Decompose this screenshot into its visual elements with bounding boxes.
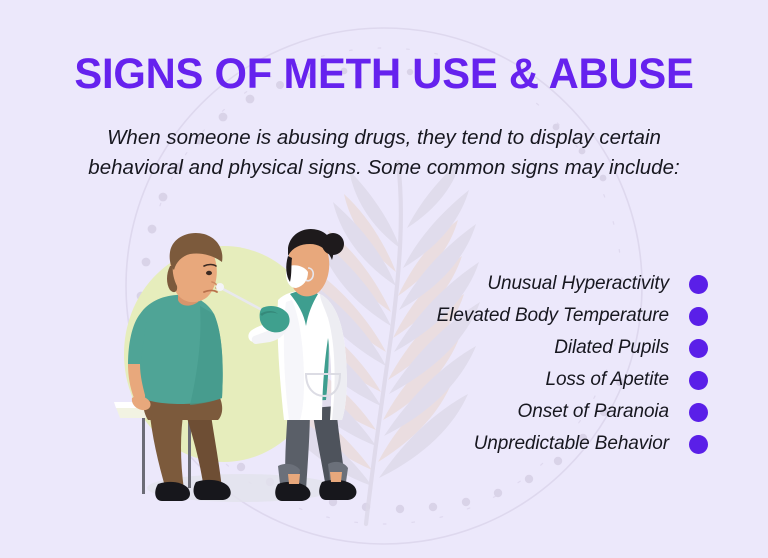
list-item: Unpredictable Behavior	[378, 428, 708, 460]
list-item: Dilated Pupils	[378, 332, 708, 364]
doctor-swabbing-patient-illustration	[92, 222, 382, 522]
list-item: Unusual Hyperactivity	[378, 268, 708, 300]
bullet-dot-icon	[689, 403, 708, 422]
header: SIGNS OF METH USE & ABUSE When someone i…	[0, 0, 768, 183]
sign-label: Unpredictable Behavior	[474, 433, 669, 455]
signs-list: Unusual Hyperactivity Elevated Body Temp…	[378, 268, 708, 460]
page-subtitle: When someone is abusing drugs, they tend…	[74, 97, 694, 183]
list-item: Onset of Paranoia	[378, 396, 708, 428]
sign-label: Onset of Paranoia	[518, 401, 669, 423]
page-title: SIGNS OF METH USE & ABUSE	[12, 0, 757, 97]
bullet-dot-icon	[689, 371, 708, 390]
bullet-dot-icon	[689, 339, 708, 358]
list-item: Loss of Apetite	[378, 364, 708, 396]
sign-label: Loss of Apetite	[546, 369, 670, 391]
bullet-dot-icon	[689, 275, 708, 294]
sign-label: Dilated Pupils	[554, 337, 669, 359]
sign-label: Elevated Body Temperature	[437, 305, 669, 327]
infographic-canvas: SIGNS OF METH USE & ABUSE When someone i…	[0, 0, 768, 558]
bullet-dot-icon	[689, 435, 708, 454]
list-item: Elevated Body Temperature	[378, 300, 708, 332]
bullet-dot-icon	[689, 307, 708, 326]
sign-label: Unusual Hyperactivity	[487, 273, 669, 295]
